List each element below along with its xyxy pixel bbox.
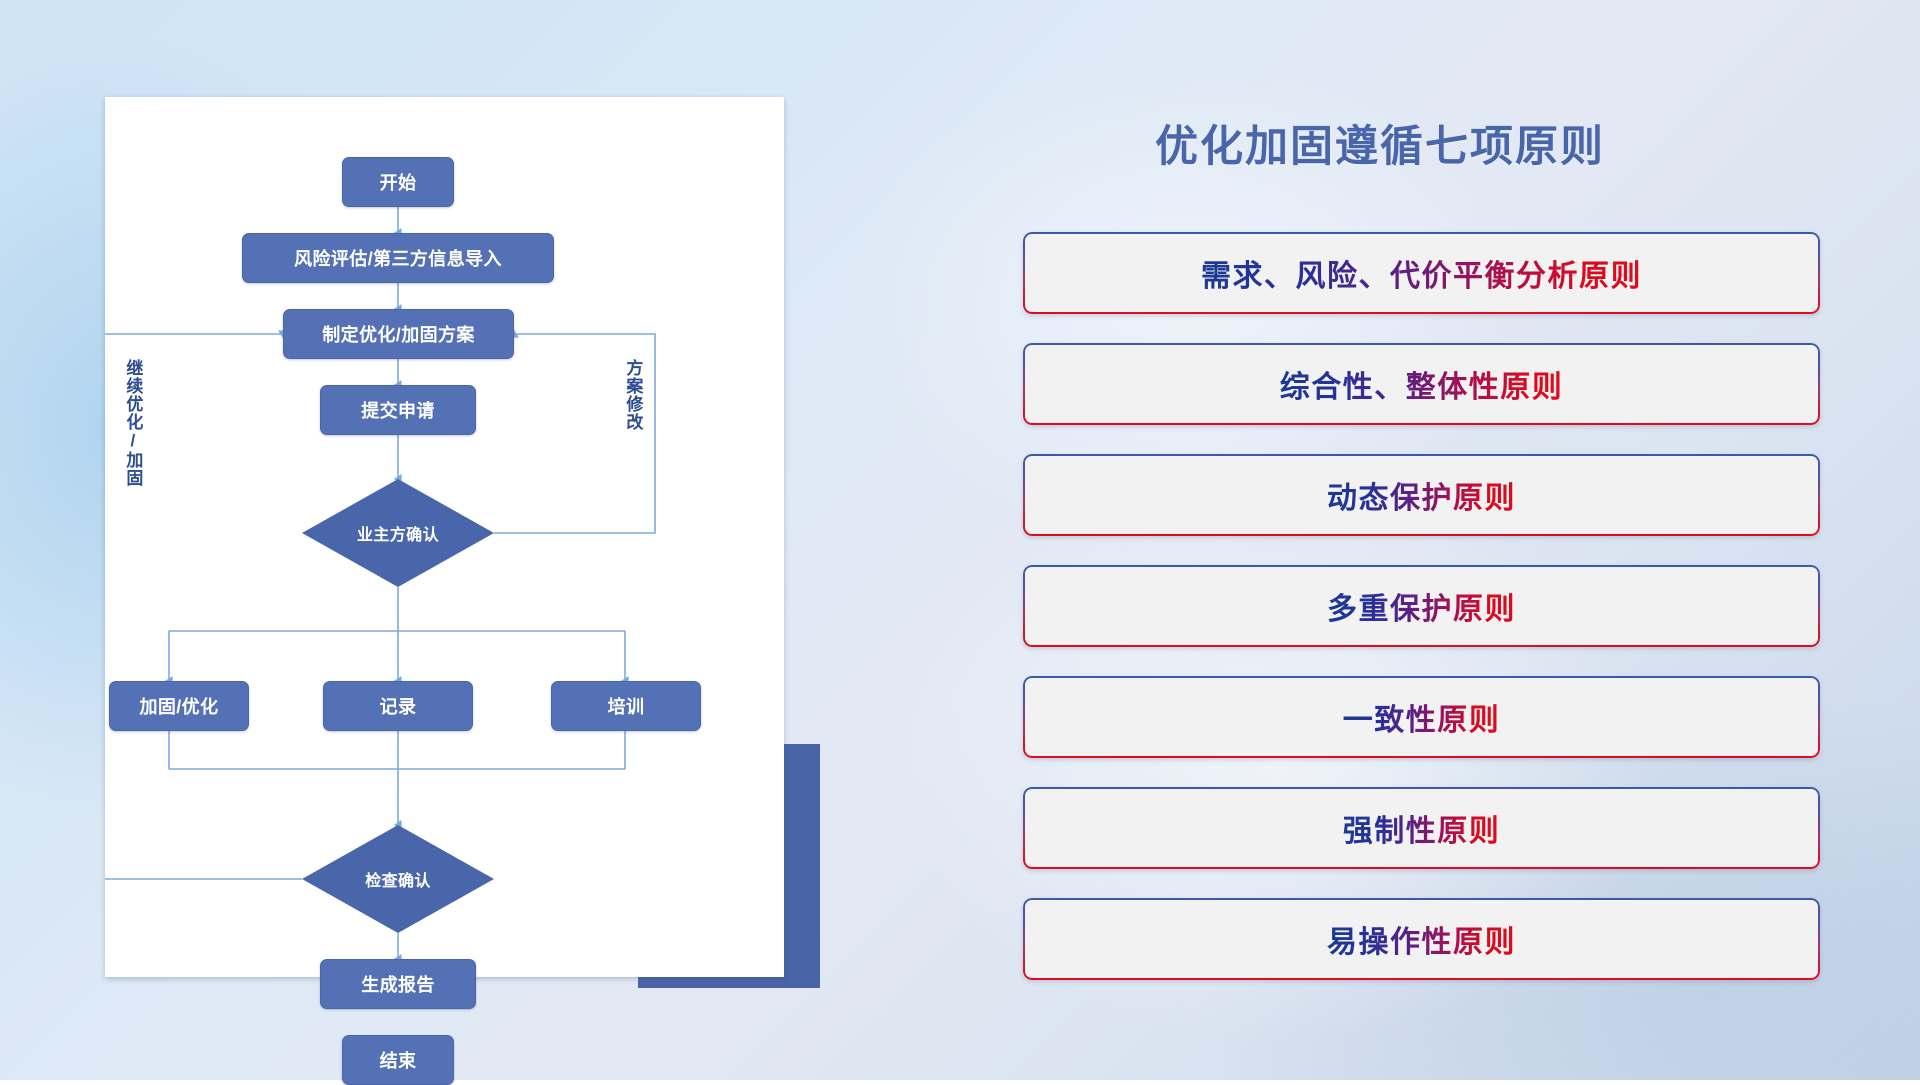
principle-card-2[interactable]: 综合性、整体性原则 [1023,343,1820,425]
flow-node-end[interactable]: 结束 [342,1035,454,1085]
flow-node-start[interactable]: 开始 [342,157,454,207]
principle-card-6[interactable]: 强制性原则 [1023,787,1820,869]
flow-node-record-label: 记录 [380,693,417,719]
flow-node-record[interactable]: 记录 [323,681,473,731]
principles-card-list: 需求、风险、代价平衡分析原则 综合性、整体性原则 动态保护原则 多重保护原则 一… [1023,232,1820,1009]
flow-node-start-label: 开始 [380,169,417,195]
principle-card-6-label: 强制性原则 [1343,806,1501,850]
flow-node-owner-confirm[interactable]: 业主方确认 [302,479,494,587]
principles-panel-title: 优化加固遵循七项原则 [1155,112,1605,174]
flow-node-submit-label: 提交申请 [361,397,435,423]
flow-node-owner-confirm-label: 业主方确认 [302,479,494,587]
principle-card-5-label: 一致性原则 [1343,695,1501,739]
flow-node-training-label: 培训 [608,693,645,719]
flow-node-generate-report-label: 生成报告 [361,971,435,997]
principle-card-7[interactable]: 易操作性原则 [1023,898,1820,980]
flow-node-check-confirm-label: 检查确认 [302,825,494,933]
principle-card-5[interactable]: 一致性原则 [1023,676,1820,758]
principle-card-3-label: 动态保护原则 [1327,473,1516,517]
flow-node-risk-assessment-label: 风险评估/第三方信息导入 [294,245,502,271]
flow-node-reinforce-label: 加固/优化 [139,693,218,719]
flow-edge-label-continue-optimize: 继续优化/加固 [123,359,141,487]
flow-node-plan-label: 制定优化/加固方案 [322,321,475,347]
flow-node-training[interactable]: 培训 [551,681,701,731]
flow-node-end-label: 结束 [380,1047,417,1073]
flow-node-reinforce[interactable]: 加固/优化 [109,681,249,731]
principle-card-1-label: 需求、风险、代价平衡分析原则 [1201,251,1642,295]
flowchart-stage: 开始 风险评估/第三方信息导入 制定优化/加固方案 提交申请 业主方确认 加固/… [105,97,784,977]
flow-node-check-confirm[interactable]: 检查确认 [302,825,494,933]
flow-node-submit[interactable]: 提交申请 [320,385,476,435]
flow-node-generate-report[interactable]: 生成报告 [320,959,476,1009]
flow-edge-label-plan-revision: 方案修改 [623,359,641,431]
flowchart-card: 开始 风险评估/第三方信息导入 制定优化/加固方案 提交申请 业主方确认 加固/… [105,97,784,977]
principle-card-4-label: 多重保护原则 [1327,584,1516,628]
principle-card-1[interactable]: 需求、风险、代价平衡分析原则 [1023,232,1820,314]
principle-card-3[interactable]: 动态保护原则 [1023,454,1820,536]
principle-card-7-label: 易操作性原则 [1327,917,1516,961]
principle-card-2-label: 综合性、整体性原则 [1280,362,1564,406]
flow-node-plan[interactable]: 制定优化/加固方案 [283,309,514,359]
slide-canvas: 开始 风险评估/第三方信息导入 制定优化/加固方案 提交申请 业主方确认 加固/… [0,0,1920,1080]
principle-card-4[interactable]: 多重保护原则 [1023,565,1820,647]
flow-node-risk-assessment[interactable]: 风险评估/第三方信息导入 [242,233,554,283]
